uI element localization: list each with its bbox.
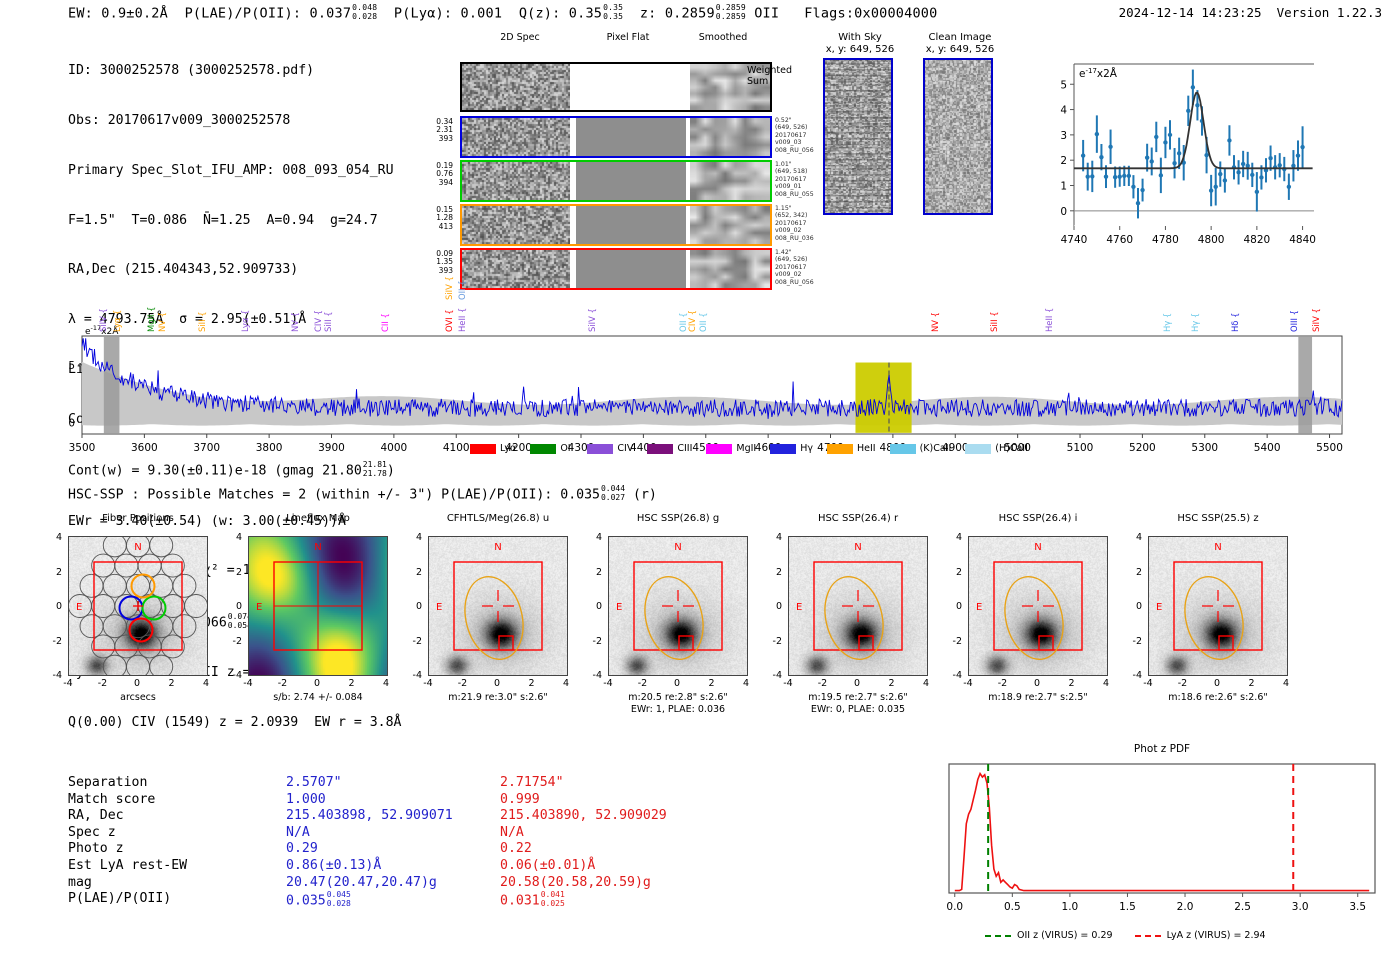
- match-col1-7: 0.0350.0450.028: [286, 891, 351, 910]
- cutout-y-axis: 420-2-4: [580, 532, 606, 672]
- match-col2-5: 0.06(±0.01)Å: [500, 858, 595, 875]
- line-fit-svg: 012345474047604780480048204840e-17x2Å: [1032, 48, 1322, 260]
- svg-text:5300: 5300: [1191, 442, 1218, 454]
- cutout-x-axis: -4-2024: [788, 678, 928, 692]
- emission-line-label-hγ-22: Hγ {: [1190, 286, 1200, 332]
- svg-text:4820: 4820: [1243, 234, 1270, 246]
- pixel-flat-image: [576, 162, 686, 200]
- header-z-frac: 0.28590.2859: [716, 4, 746, 21]
- cutout-overlay: NE: [609, 537, 747, 675]
- svg-text:2.5: 2.5: [1234, 901, 1251, 913]
- hsc-main: HSC-SSP : Possible Matches = 2 (within +…: [68, 487, 600, 502]
- match-col2-1: 0.999: [500, 792, 540, 809]
- cutout-pixels: [925, 60, 991, 213]
- cutout-x-axis: -4-2024: [968, 678, 1108, 692]
- cutout-caption-hsc-r: m:19.5 re:2.7" s:2.6"EWr: 0, PLAE: 0.035: [758, 692, 958, 715]
- info-primary-slot: Primary Spec_Slot_IFU_AMP: 008_093_054_R…: [68, 163, 401, 180]
- svg-text:N: N: [674, 542, 681, 553]
- svg-text:N: N: [494, 542, 501, 553]
- svg-text:4100: 4100: [443, 442, 470, 454]
- col-title-smoothed: Smoothed: [673, 32, 773, 43]
- info-plae-mid: (w: 0.059: [260, 615, 331, 630]
- svg-text:4: 4: [1060, 105, 1067, 117]
- legend-swatch-OII: [530, 444, 556, 454]
- header-plya: P(Lyα): 0.001: [394, 5, 502, 21]
- spec2d-image: [462, 162, 570, 200]
- pdf-legend-label: OII z (VIRUS) = 0.29: [1017, 930, 1113, 941]
- cutout-y-axis: 420-2-4: [400, 532, 426, 672]
- legend-swatch-Lyα: [470, 444, 496, 454]
- cutout-title-hsc-g: HSC SSP(26.8) g: [583, 513, 773, 525]
- legend-label-MgII: MgII: [736, 443, 756, 454]
- legend-label-CIV: CIV: [617, 443, 633, 454]
- cutout-overlay: NE: [429, 537, 567, 675]
- cutout-image-hsc-r: NE: [788, 536, 928, 676]
- svg-text:2.0: 2.0: [1177, 901, 1194, 913]
- header-ew: EW: 0.9±0.2Å: [68, 5, 168, 21]
- emission-line-label-nv-3: NV {: [157, 286, 167, 332]
- cutout-x-axis: -4-2024: [428, 678, 568, 692]
- svg-text:5: 5: [68, 360, 75, 372]
- phot-z-svg: Phot z PDF0.00.51.01.52.02.53.03.5: [925, 738, 1385, 923]
- match-label-3: Spec z: [68, 825, 116, 842]
- phot-z-legend: OII z (VIRUS) = 0.29LyA z (VIRUS) = 2.94: [985, 930, 1288, 941]
- emission-line-label-siii-8: SiII {: [323, 286, 333, 332]
- legend-swatch-(H)CaII: [965, 444, 991, 454]
- svg-text:3: 3: [1060, 130, 1067, 142]
- spec2d-image: [462, 118, 570, 156]
- emission-line-label-hδ-23: Hδ {: [1230, 286, 1240, 332]
- match-col1-3: N/A: [286, 825, 310, 842]
- legend-label-(H)CaII: (H)CaII: [995, 443, 1028, 454]
- cutout-caption-hsc-z: m:18.6 re:2.6" s:2.6": [1118, 692, 1318, 704]
- legend-swatch-(K)CaII: [890, 444, 916, 454]
- info-plae-frac: 0.0740.054: [228, 613, 252, 630]
- svg-text:3.5: 3.5: [1349, 901, 1366, 913]
- legend-label-OII: OII: [560, 443, 573, 454]
- cutout-title-with-sky: With Skyx, y: 649, 526: [805, 32, 915, 56]
- svg-text:5: 5: [1060, 79, 1067, 91]
- match-col2-2: 215.403890, 52.909029: [500, 808, 667, 825]
- cutout-x-axis: -4-2024: [1148, 678, 1288, 692]
- spec2d-row-metrics: 0.151.28413: [423, 206, 453, 231]
- cutout-image-cfhtls-u: NE: [428, 536, 568, 676]
- header-z-species: OII: [754, 5, 779, 21]
- svg-text:0.5: 0.5: [1004, 901, 1021, 913]
- svg-text:E: E: [796, 602, 802, 613]
- legend-swatch-MgII: [706, 444, 732, 454]
- svg-text:4800: 4800: [1198, 234, 1225, 246]
- legend-label-Lyα: Lyα: [500, 443, 516, 454]
- svg-text:3700: 3700: [193, 442, 220, 454]
- pdf-legend-dash-LyA z (VIRUS) = 2.94: [1135, 935, 1161, 937]
- header-z-label: z:: [640, 5, 657, 21]
- svg-text:3900: 3900: [318, 442, 345, 454]
- header-plae-label: P(LAE)/P(OII):: [185, 5, 302, 21]
- info-plae-main: P(LAE)/P(OII): 0.066: [68, 615, 227, 630]
- header-qz-label: Q(z):: [519, 5, 561, 21]
- cutout-y-axis: 420-2-4: [1120, 532, 1146, 672]
- cutout-title-cfhtls-u: CFHTLS/Meg(26.8) u: [403, 513, 593, 525]
- svg-text:4000: 4000: [381, 442, 408, 454]
- spec2d-panel-group: 2D Spec Pixel Flat Smoothed 0.342.313930…: [425, 32, 785, 260]
- cutout-overlay: NE: [969, 537, 1107, 675]
- svg-text:0.0: 0.0: [946, 901, 963, 913]
- hsc-ssp-summary: HSC-SSP : Possible Matches = 2 (within +…: [68, 485, 657, 502]
- emission-line-label-oiii-24: OIII {: [1289, 286, 1299, 332]
- emission-line-label-hγ-21: Hγ {: [1162, 286, 1172, 332]
- legend-label-HeII: HeII: [857, 443, 876, 454]
- match-col2-4: 0.22: [500, 841, 532, 858]
- match-col2-0: 2.71754": [500, 775, 564, 792]
- match-label-0: Separation: [68, 775, 147, 792]
- legend-label-(K)CaII: (K)CaII: [920, 443, 952, 454]
- emission-line-label-siii-4: SiII {: [197, 286, 207, 332]
- cutout-title-hsc-r: HSC SSP(26.4) r: [763, 513, 953, 525]
- match-col1-2: 215.403898, 52.909071: [286, 808, 453, 825]
- match-col1-4: 0.29: [286, 841, 318, 858]
- svg-text:5500: 5500: [1316, 442, 1343, 454]
- cutout-y-axis: 420-2-4: [760, 532, 786, 672]
- emission-line-label-siiv-14: SiIV {: [587, 286, 597, 332]
- emission-line-label-oii-13: OII {: [457, 254, 467, 300]
- svg-text:5400: 5400: [1254, 442, 1281, 454]
- cutout-with-sky: [823, 58, 893, 215]
- cutout-overlay: NE: [789, 537, 927, 675]
- emission-line-label-heii-20: HeII {: [1044, 286, 1054, 332]
- cutout-clean-image: [923, 58, 993, 215]
- svg-text:Phot z PDF: Phot z PDF: [1134, 743, 1190, 755]
- header-plae-value: 0.037: [310, 5, 352, 21]
- svg-text:0: 0: [1060, 206, 1067, 218]
- emission-line-label-siiv-0: SiIV {: [98, 286, 108, 332]
- legend-swatch-Hγ: [770, 444, 796, 454]
- emission-line-label-mgii-2: MgII {: [146, 286, 156, 332]
- cutout-caption-cfhtls-u: m:21.9 re:3.0" s:2.6": [398, 692, 598, 704]
- svg-text:E: E: [976, 602, 982, 613]
- pixel-flat-image: [576, 64, 686, 110]
- spec2d-row-metrics: 0.342.31393: [423, 118, 453, 143]
- spec2d-row-1: [460, 116, 772, 158]
- match-label-6: mag: [68, 875, 92, 892]
- match-col2-6: 20.58(20.58,20.59)g: [500, 875, 651, 892]
- svg-text:N: N: [1214, 542, 1221, 553]
- cutout-y-axis: 420-2-4: [40, 532, 66, 672]
- line-fit-chart: 012345474047604780480048204840e-17x2Å: [1032, 48, 1322, 260]
- cutout-image-hsc-g: NE: [608, 536, 748, 676]
- svg-text:N: N: [1034, 542, 1041, 553]
- svg-text:0: 0: [68, 417, 75, 429]
- sky-bands: [825, 60, 891, 213]
- smoothed-image: [690, 162, 770, 200]
- svg-text:N: N: [854, 542, 861, 553]
- emission-line-label-siiv-25: SiIV {: [1311, 286, 1321, 332]
- cutout-x-axis: -4-2024: [608, 678, 748, 692]
- match-col1-frac: 0.0450.028: [327, 891, 351, 908]
- match-label-7: P(LAE)/P(OII): [68, 891, 171, 908]
- match-col1-6: 20.47(20.47,20.47)g: [286, 875, 437, 892]
- info-plae: P(LAE)/P(OII): 0.0660.0740.054 (w: 0.059…: [68, 613, 401, 632]
- full-spectrum-chart: 0535003600370038003900400041004200430044…: [60, 276, 1350, 466]
- cutout-overlay: NE: [1149, 537, 1287, 675]
- match-col2-7: 0.0310.0410.025: [500, 891, 565, 910]
- spec2d-image: [462, 64, 570, 110]
- spec2d-image: [462, 206, 570, 244]
- svg-text:5100: 5100: [1067, 442, 1094, 454]
- header-z-value: 0.2859: [665, 5, 715, 21]
- match-col2-3: N/A: [500, 825, 524, 842]
- cutout-caption-hsc-i: m:18.9 re:2.7" s:2.5": [938, 692, 1138, 704]
- svg-text:3600: 3600: [131, 442, 158, 454]
- emission-line-label-nv-18: NV {: [930, 286, 940, 332]
- svg-text:4780: 4780: [1152, 234, 1179, 246]
- info-plae-tail: ): [356, 615, 364, 630]
- svg-text:E: E: [616, 602, 622, 613]
- legend-swatch-CIV: [587, 444, 613, 454]
- svg-text:4840: 4840: [1289, 234, 1316, 246]
- emission-line-label-oii-17: OII {: [698, 286, 708, 332]
- header-timestamp-version: 2024-12-14 14:23:25 Version 1.22.3: [1119, 5, 1382, 20]
- info-obs: Obs: 20170617v009_3000252578: [68, 113, 401, 130]
- svg-text:1.5: 1.5: [1119, 901, 1136, 913]
- svg-text:5200: 5200: [1129, 442, 1156, 454]
- info-ewr: EWr = 3.40(±0.54) (w: 3.00(±0.45))Å: [68, 514, 401, 531]
- phot-z-pdf-chart: Phot z PDF0.00.51.01.52.02.53.03.5: [925, 738, 1385, 923]
- match-label-2: RA, Dec: [68, 808, 124, 825]
- match-col2-frac: 0.0410.025: [541, 891, 565, 908]
- info-plae-wfrac: 0.0710.051: [332, 613, 356, 630]
- emission-line-label-cii-9: CII {: [380, 286, 390, 332]
- info-id: ID: 3000252578 (3000252578.pdf): [68, 63, 401, 80]
- emission-line-label-lyα-1: Lyα {: [112, 286, 122, 332]
- cutout-title-clean-image: Clean Imagex, y: 649, 526: [905, 32, 1015, 56]
- svg-text:3800: 3800: [256, 442, 283, 454]
- cutout-caption-hsc-g: m:20.5 re:2.8" s:2.6"EWr: 1, PLAE: 0.036: [578, 692, 778, 715]
- svg-text:1.0: 1.0: [1062, 901, 1079, 913]
- svg-text:4740: 4740: [1061, 234, 1088, 246]
- svg-text:e-17x2Å: e-17x2Å: [1079, 67, 1118, 80]
- cutout-title-hsc-z: HSC SSP(25.5) z: [1123, 513, 1313, 525]
- info-fwhm-throughput: F=1.5" T=0.086 N̄=1.25 A=0.94 g=24.7: [68, 213, 401, 230]
- svg-text:2: 2: [1060, 155, 1067, 167]
- info-redshifts: LyA z = 2.9433 OII z = 0.2859: [68, 665, 401, 682]
- cutout-image-hsc-i: NE: [968, 536, 1108, 676]
- header-plae-frac: 0.0480.028: [352, 4, 377, 21]
- timestamp: 2024-12-14 14:23:25: [1119, 5, 1262, 20]
- legend-swatch-CIII: [647, 444, 673, 454]
- spec2d-row-2: [460, 160, 772, 202]
- emission-line-label-civ-16: CIV {: [687, 286, 697, 332]
- svg-text:E: E: [1156, 602, 1162, 613]
- cutout-y-axis: 420-2-4: [940, 532, 966, 672]
- info-sn-chi2: S/N = 5.9(±0.5) χ² = 1.0(±0.2): [68, 563, 401, 580]
- legend-swatch-HeII: [827, 444, 853, 454]
- match-label-4: Photo z: [68, 841, 124, 858]
- match-col1-0: 2.5707": [286, 775, 342, 792]
- version-label: Version 1.22.3: [1277, 5, 1382, 20]
- header-flags: Flags:0x00004000: [804, 5, 937, 21]
- match-col1-1: 1.000: [286, 792, 326, 809]
- emission-line-label-siiv-11: SiIV {: [444, 254, 454, 300]
- emission-line-label-civ-7: CIV {: [313, 286, 323, 332]
- emission-line-label-siii-19: SiII {: [989, 286, 999, 332]
- smoothed-image: [690, 118, 770, 156]
- col-title-2dspec: 2D Spec: [460, 32, 580, 43]
- header-qz-frac: 0.350.35: [603, 4, 623, 21]
- smoothed-image: [690, 206, 770, 244]
- hsc-tail: (r): [633, 487, 657, 502]
- svg-text:3.0: 3.0: [1292, 901, 1309, 913]
- col-title-pixelflat: Pixel Flat: [573, 32, 683, 43]
- cutout-image-hsc-z: NE: [1148, 536, 1288, 676]
- svg-text:1: 1: [1060, 181, 1067, 193]
- match-col1-5: 0.86(±0.13)Å: [286, 858, 381, 875]
- spectrum-legend: LyαOIICIVCIIIMgIIHγHeII(K)CaII(H)CaII: [470, 443, 1042, 454]
- legend-label-CIII: CIII: [677, 443, 692, 454]
- svg-text:E: E: [436, 602, 442, 613]
- spec2d-row-metrics: 0.190.76394: [423, 162, 453, 187]
- cutout-title-hsc-i: HSC SSP(26.4) i: [943, 513, 1133, 525]
- spec2d-row-primary: [460, 62, 772, 112]
- pixel-flat-image: [576, 206, 686, 244]
- legend-label-Hγ: Hγ: [800, 443, 813, 454]
- pdf-legend-label: LyA z (VIRUS) = 2.94: [1167, 930, 1266, 941]
- pdf-legend-dash-OII z (VIRUS) = 0.29: [985, 935, 1011, 937]
- emission-line-label-lyα-5: Lyα {: [240, 286, 250, 332]
- spec2d-row-3: [460, 204, 772, 246]
- hsc-frac: 0.0440.027: [601, 485, 625, 502]
- svg-text:4760: 4760: [1106, 234, 1133, 246]
- header-summary-line: EW: 0.9±0.2Å P(LAE)/P(OII): 0.0370.0480.…: [68, 4, 937, 21]
- match-label-5: Est LyA rest-EW: [68, 858, 187, 875]
- emission-line-label-nv-6: NV {: [290, 286, 300, 332]
- info-q-civ: Q(0.00) CIV (1549) z = 2.0939 EW r = 3.8…: [68, 715, 401, 732]
- pixel-flat-image: [576, 118, 686, 156]
- header-qz-value: 0.35: [569, 5, 602, 21]
- svg-text:3500: 3500: [69, 442, 96, 454]
- weighted-sum-label: Weighted Sum: [747, 65, 792, 87]
- match-label-1: Match score: [68, 792, 155, 809]
